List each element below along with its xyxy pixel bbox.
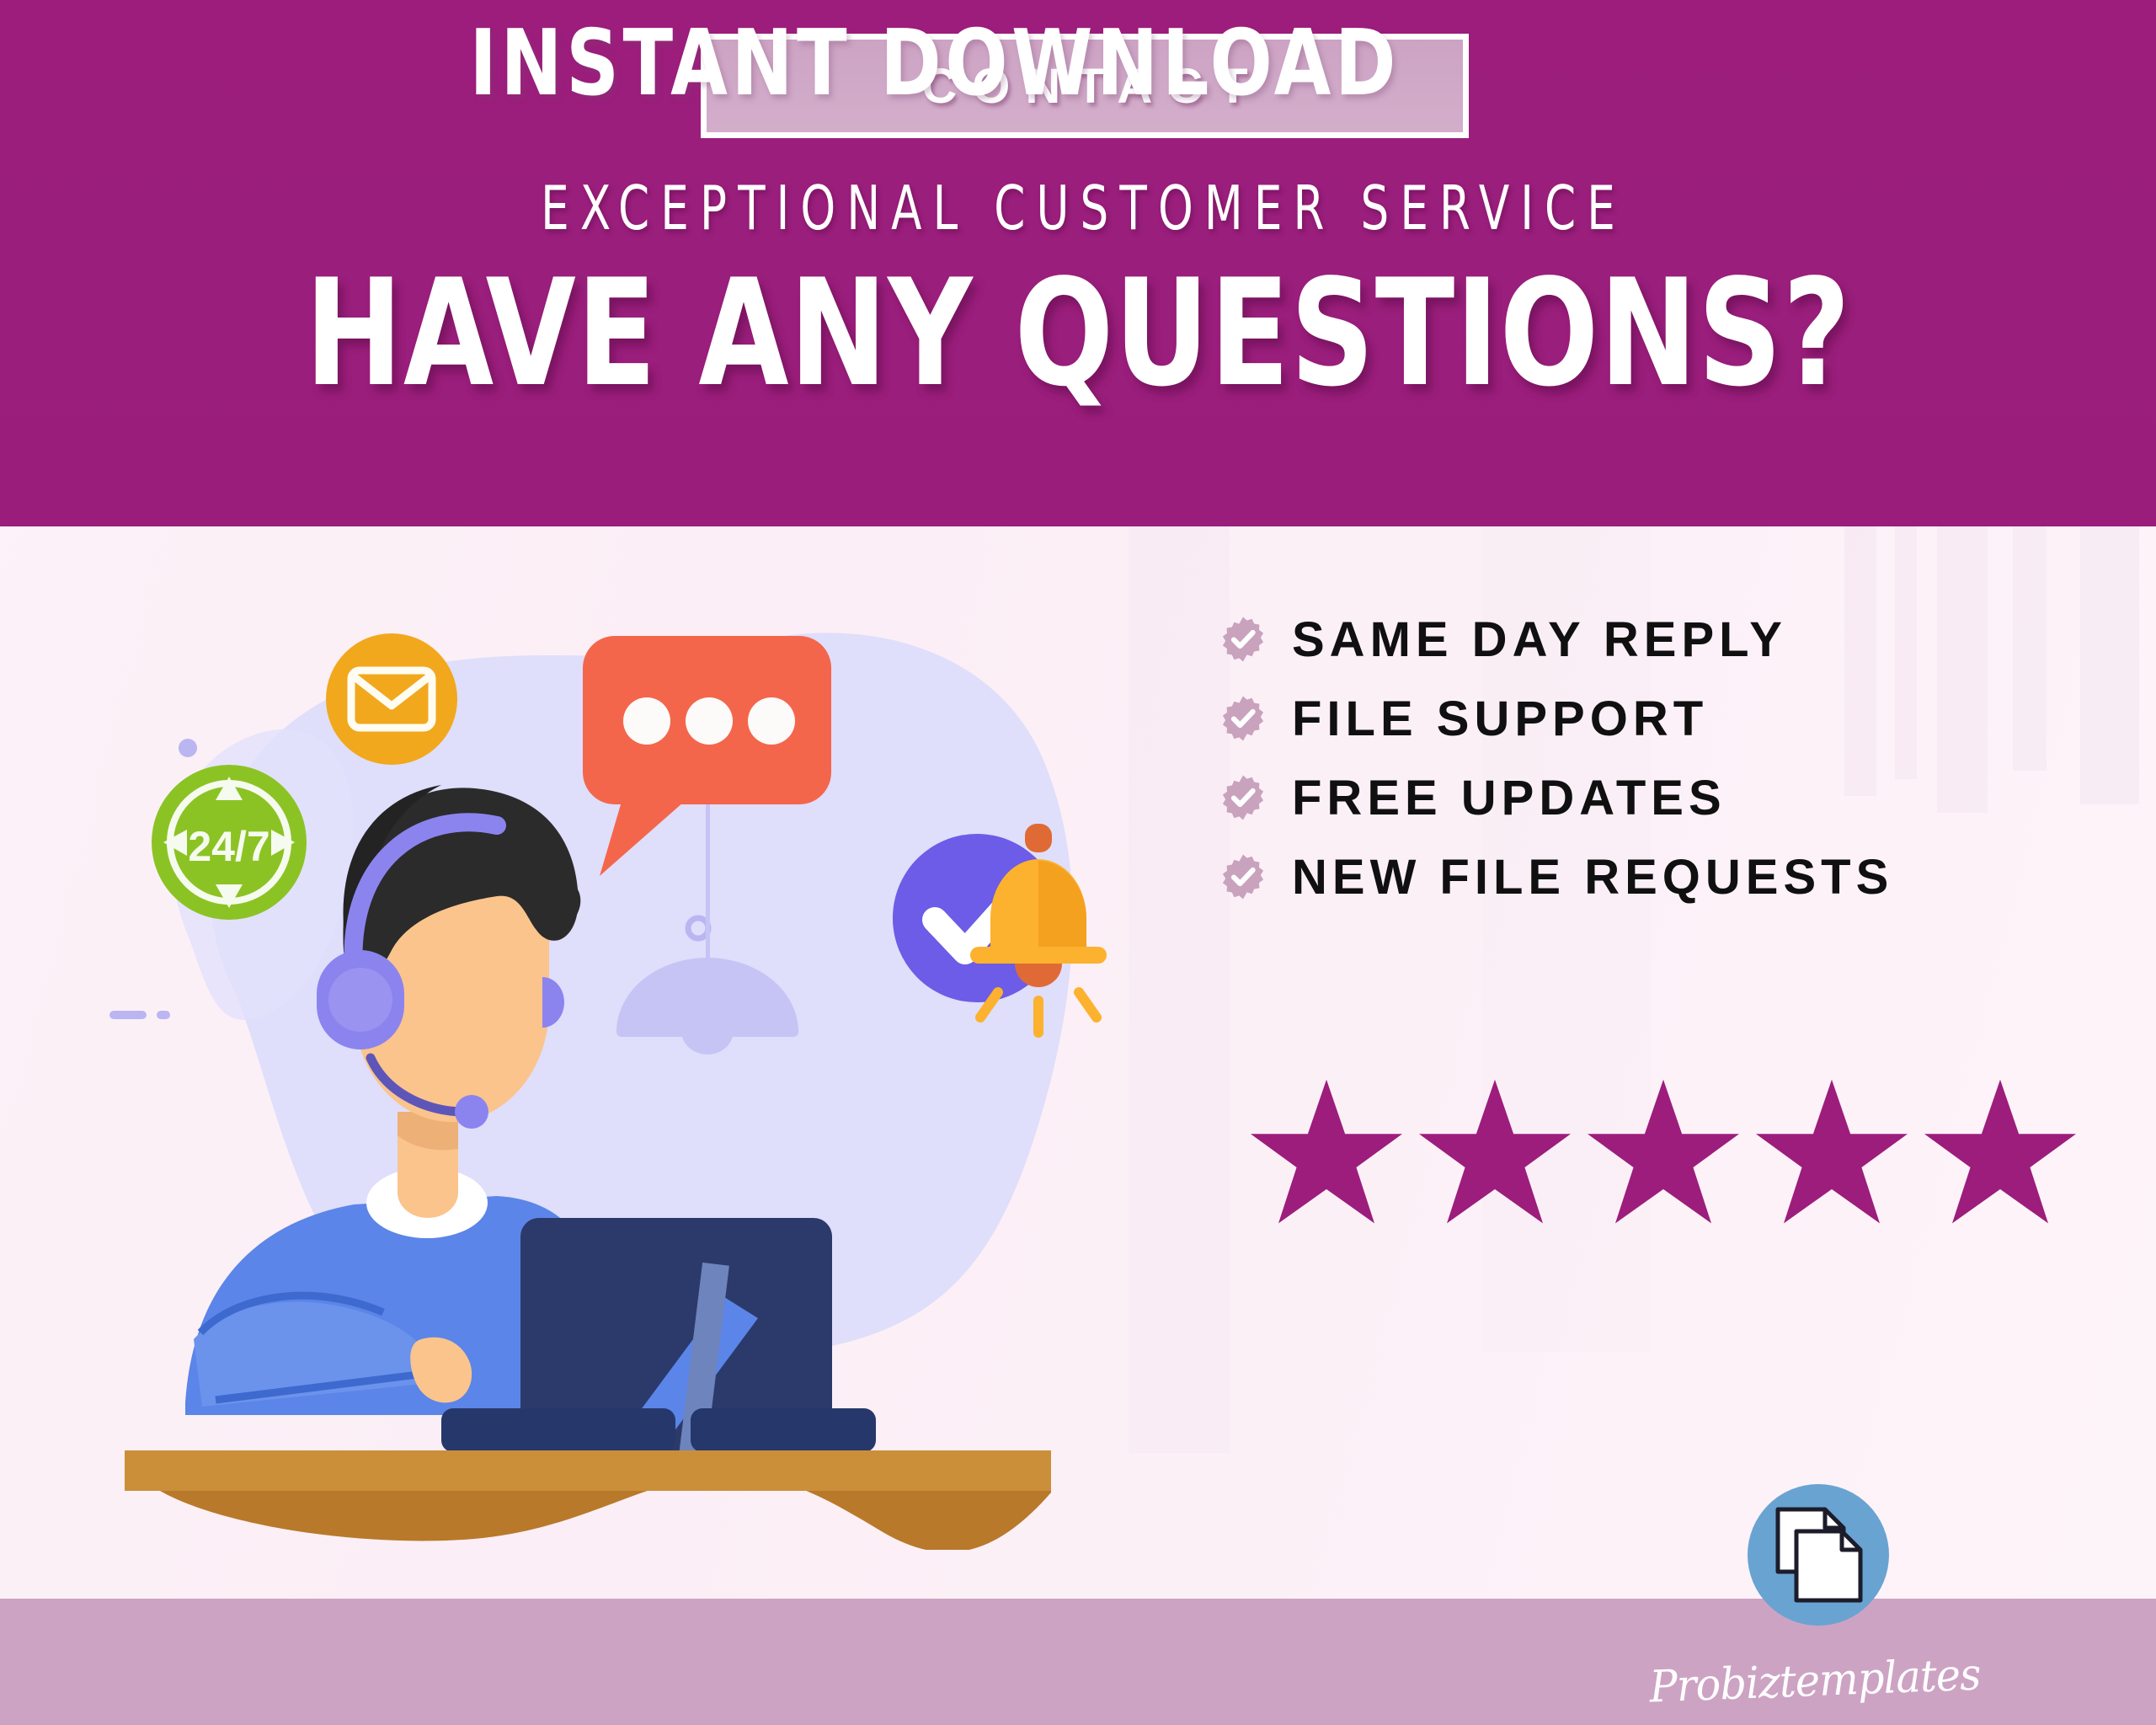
envelope-icon (326, 633, 457, 765)
star-rating (1246, 1076, 2080, 1228)
check-rosette-icon (1219, 853, 1267, 900)
feature-label: FREE UPDATES (1292, 770, 1726, 826)
keyboard-icon (441, 1408, 876, 1452)
brand-logo: Probiztemplates (1638, 1484, 1992, 1712)
feature-label: NEW FILE REQUESTS (1292, 849, 1893, 905)
star-icon (1920, 1076, 2080, 1228)
promo-graphic: CONTACT EXCEPTIONAL CUSTOMER SERVICE HAV… (0, 0, 2156, 1725)
feature-list: SAME DAY REPLY FILE SUPPORT FREE UPDATES (1219, 600, 1893, 916)
logo-circle (1748, 1484, 1889, 1626)
svg-text:24/7: 24/7 (188, 823, 269, 870)
list-item: FREE UPDATES (1219, 758, 1893, 837)
instant-download-label: INSTANT DOWNLOAD (470, 11, 1401, 116)
feature-label: SAME DAY REPLY (1292, 611, 1787, 668)
instant-download-banner: INSTANT DOWNLOAD (0, 0, 2156, 126)
header-subtitle: EXCEPTIONAL CUSTOMER SERVICE (194, 173, 1961, 243)
list-item: FILE SUPPORT (1219, 679, 1893, 758)
support-agent-illustration: 24/7 (101, 556, 1196, 1550)
star-icon (1246, 1076, 1406, 1228)
star-icon (1583, 1076, 1743, 1228)
documents-icon (1773, 1506, 1865, 1604)
desk-shape (125, 1450, 1051, 1550)
check-rosette-icon (1219, 774, 1267, 821)
page-title: HAVE ANY QUESTIONS? (130, 257, 2027, 412)
check-rosette-icon (1219, 616, 1267, 663)
check-rosette-icon (1219, 695, 1267, 742)
list-item: NEW FILE REQUESTS (1219, 837, 1893, 916)
brand-name: Probiztemplates (1646, 1649, 1983, 1712)
star-icon (1415, 1076, 1575, 1228)
star-icon (1752, 1076, 1912, 1228)
feature-label: FILE SUPPORT (1292, 691, 1708, 747)
list-item: SAME DAY REPLY (1219, 600, 1893, 679)
clock-24-7-icon: 24/7 (152, 765, 307, 920)
